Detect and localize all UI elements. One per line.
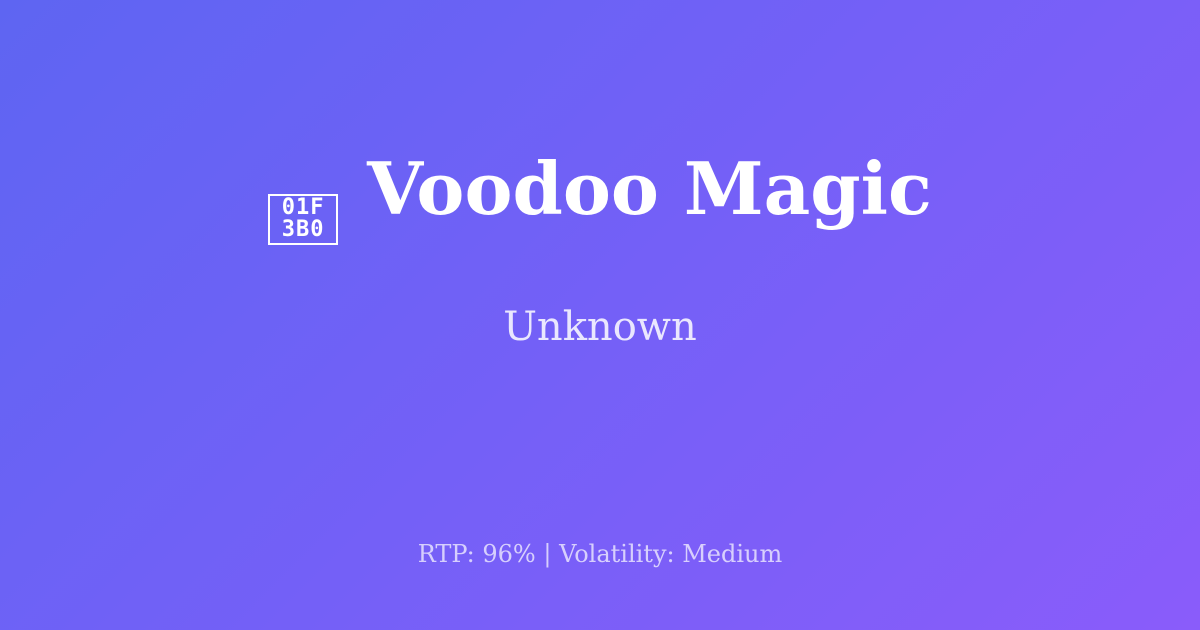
tofu-codepoint-bottom: 3B0 [282, 219, 325, 241]
game-og-card: 01F 3B0 Voodoo Magic Unknown RTP: 96% | … [0, 0, 1200, 630]
tofu-codepoint-top: 01F [282, 197, 325, 219]
game-provider: Unknown [503, 245, 697, 347]
slot-machine-emoji-tofu-icon: 01F 3B0 [268, 194, 338, 245]
hero-block: 01F 3B0 Voodoo Magic Unknown [0, 0, 1200, 500]
title-row: 01F 3B0 Voodoo Magic [268, 153, 932, 245]
game-title: Voodoo Magic [367, 153, 932, 225]
game-stats-line: RTP: 96% | Volatility: Medium [0, 540, 1200, 568]
